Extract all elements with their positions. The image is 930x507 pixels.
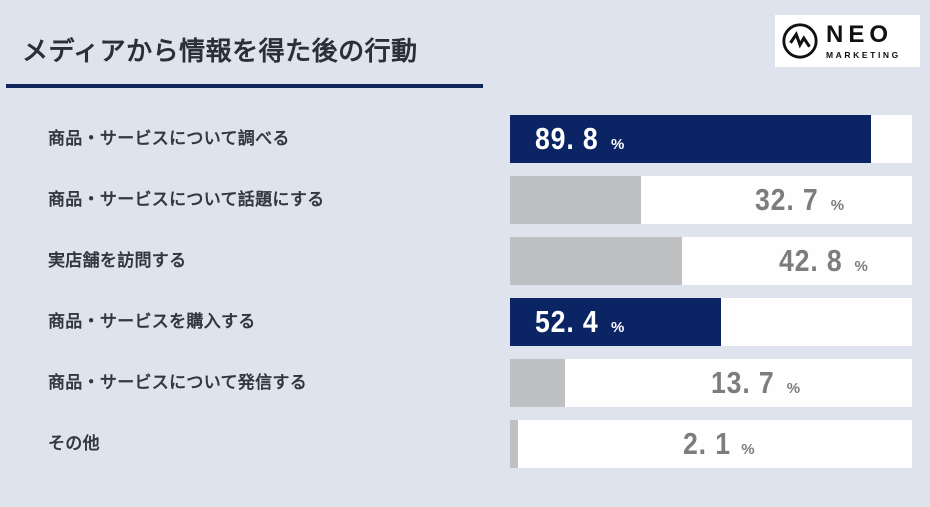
bar-fill (510, 237, 682, 285)
percent-sign: % (855, 243, 868, 291)
chart-row: 商品・サービスについて調べる89. 8% (0, 115, 930, 163)
bar-value-label: 13. 7% (711, 359, 800, 407)
bar-value-number: 52. 4 (535, 298, 599, 346)
bar-category-label: その他 (48, 420, 100, 468)
bar-value-number: 13. 7 (711, 359, 775, 407)
bar-category-label: 商品・サービスについて調べる (48, 115, 290, 163)
bar-category-label: 実店舗を訪問する (48, 237, 186, 285)
page-title: メディアから情報を得た後の行動 (22, 31, 418, 68)
bar-value-number: 32. 7 (755, 176, 819, 224)
percent-sign: % (831, 182, 844, 230)
bar-value-label: 89. 8% (535, 115, 624, 163)
bar-fill (510, 176, 641, 224)
bar-value-label: 42. 8% (779, 237, 868, 285)
bar-track: 13. 7% (510, 359, 912, 407)
pulse-wave-circle-icon (781, 22, 819, 60)
bar-fill (510, 359, 565, 407)
logo-name: NEO (826, 23, 901, 47)
bar-value-label: 52. 4% (535, 298, 624, 346)
title-underline-rule (6, 84, 483, 88)
bar-value-label: 2. 1% (683, 420, 754, 468)
bar-track: 89. 8% (510, 115, 912, 163)
chart-row: 商品・サービスについて話題にする32. 7% (0, 176, 930, 224)
chart-row: その他2. 1% (0, 420, 930, 468)
bar-track: 2. 1% (510, 420, 912, 468)
percent-sign: % (741, 426, 754, 474)
percent-sign: % (611, 121, 624, 169)
percent-sign: % (611, 304, 624, 352)
percent-sign: % (787, 365, 800, 413)
bar-category-label: 商品・サービスについて発信する (48, 359, 307, 407)
logo-subtitle: MARKETING (826, 51, 901, 60)
bar-value-number: 42. 8 (779, 237, 843, 285)
bar-value-number: 89. 8 (535, 115, 599, 163)
bar-value-label: 32. 7% (755, 176, 844, 224)
bar-fill (510, 420, 518, 468)
chart-row: 実店舗を訪問する42. 8% (0, 237, 930, 285)
neo-marketing-logo: NEO MARKETING (775, 15, 920, 67)
bar-track: 32. 7% (510, 176, 912, 224)
bar-value-number: 2. 1 (683, 420, 731, 468)
chart-row: 商品・サービスについて発信する13. 7% (0, 359, 930, 407)
page-header: メディアから情報を得た後の行動 NEO MARKETING (0, 0, 930, 100)
bar-category-label: 商品・サービスについて話題にする (48, 176, 324, 224)
bar-track: 52. 4% (510, 298, 912, 346)
logo-wordmark: NEO MARKETING (826, 23, 901, 60)
bar-category-label: 商品・サービスを購入する (48, 298, 256, 346)
chart-row: 商品・サービスを購入する52. 4% (0, 298, 930, 346)
horizontal-bar-chart: 商品・サービスについて調べる89. 8%商品・サービスについて話題にする32. … (0, 115, 930, 495)
bar-track: 42. 8% (510, 237, 912, 285)
